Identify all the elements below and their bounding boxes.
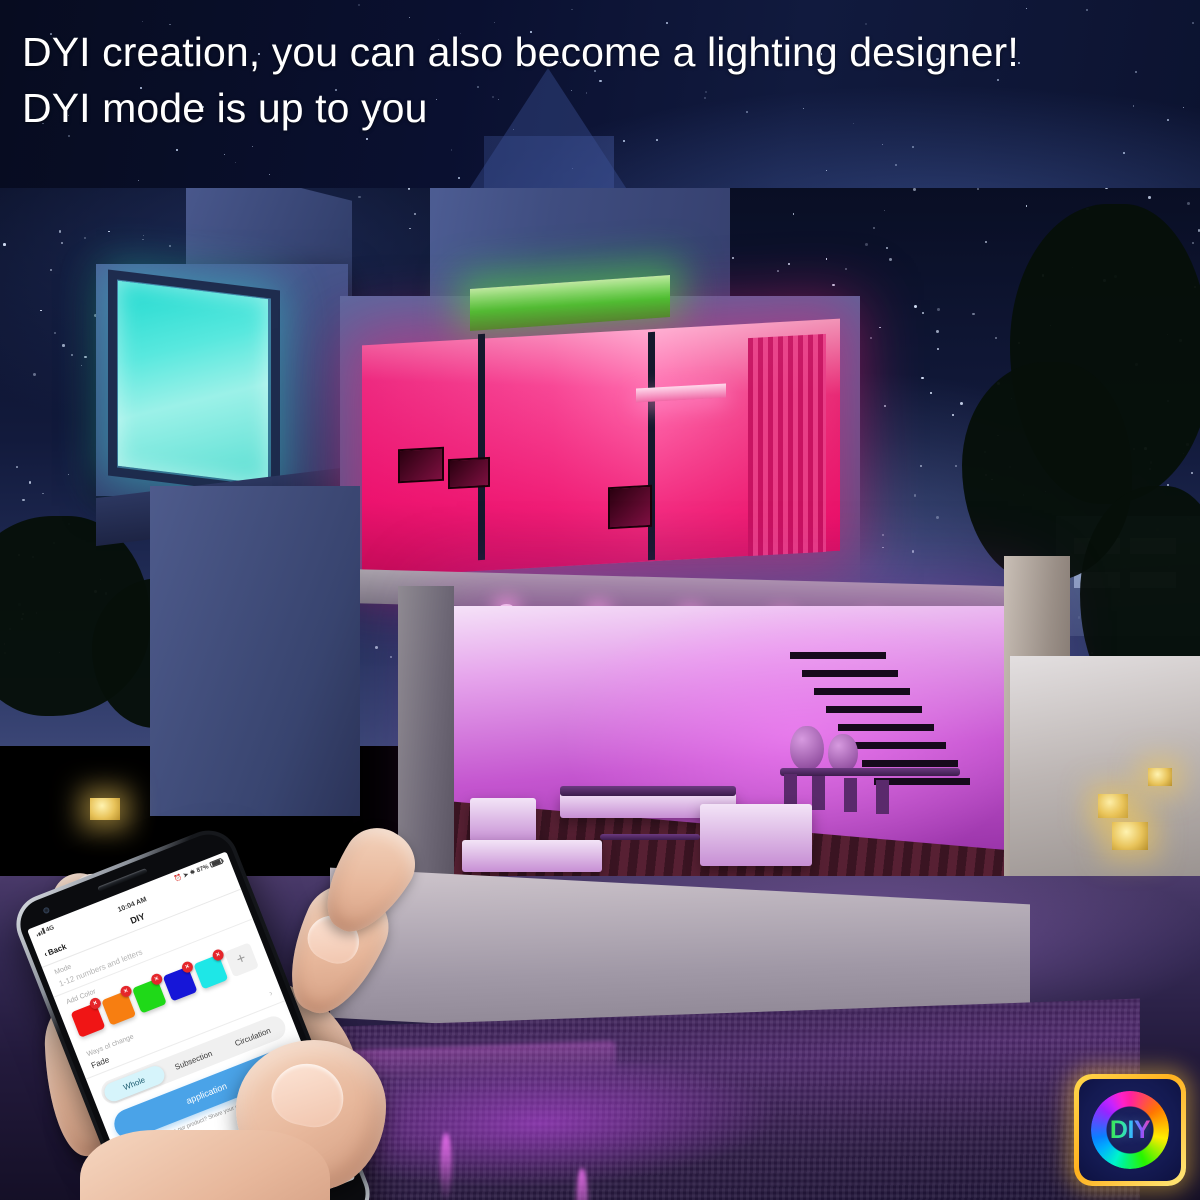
promo-image: DYI creation, you can also become a ligh… xyxy=(0,0,1200,1200)
landscape-light-panel xyxy=(1098,794,1128,818)
window-curtains xyxy=(748,334,826,556)
stair-tread xyxy=(814,688,910,695)
remove-swatch-icon[interactable]: × xyxy=(211,948,225,962)
diy-logo-badge: DIY xyxy=(1074,1074,1186,1186)
remove-swatch-icon[interactable]: × xyxy=(180,960,194,974)
color-swatch-red[interactable]: × xyxy=(70,1003,105,1038)
house-night-scene: 4G ⏰ ➤ ✵ 87% 10:04 AM xyxy=(0,186,1200,1200)
bluetooth-icon: ✵ xyxy=(189,868,196,876)
armchair xyxy=(700,804,812,866)
remove-swatch-icon[interactable]: × xyxy=(88,996,102,1010)
right-patio-wall xyxy=(1010,656,1200,876)
pool-reflection xyxy=(576,1168,588,1200)
stair-tread xyxy=(802,670,898,677)
landscape-light-panel xyxy=(1112,822,1148,850)
sofa-backrest xyxy=(560,786,736,796)
page-title-diy: DIY xyxy=(129,911,147,926)
remove-swatch-icon[interactable]: × xyxy=(150,972,164,986)
stair-tread xyxy=(862,760,958,767)
wrist xyxy=(80,1130,330,1200)
color-swatch-cyan[interactable]: × xyxy=(193,954,228,989)
diy-badge-panel: DIY xyxy=(1079,1079,1181,1181)
wall-picture xyxy=(398,447,444,484)
color-swatch-green[interactable]: × xyxy=(132,979,167,1014)
coffee-table xyxy=(600,834,700,840)
wall-picture xyxy=(448,457,490,489)
dining-chair xyxy=(812,776,825,810)
window-mullion xyxy=(478,334,485,560)
dining-chair xyxy=(784,774,797,808)
floor-vase xyxy=(790,726,824,770)
color-swatch-blue[interactable]: × xyxy=(163,966,198,1001)
color-swatch-orange[interactable]: × xyxy=(101,991,136,1026)
stair-tread xyxy=(838,724,934,731)
stair-tread xyxy=(790,652,886,659)
headline-banner: DYI creation, you can also become a ligh… xyxy=(0,0,1200,188)
front-camera-icon xyxy=(42,907,50,915)
house-left-box xyxy=(96,264,348,496)
landscape-light-panel xyxy=(1148,768,1172,786)
diy-badge-label: DIY xyxy=(1110,1116,1150,1145)
wall-poster xyxy=(608,485,652,529)
dining-chair xyxy=(844,778,857,812)
stair-tread xyxy=(826,706,922,713)
remove-swatch-icon[interactable]: × xyxy=(119,984,133,998)
back-button[interactable]: ‹ Back xyxy=(43,942,68,959)
page-title: DYI creation, you can also become a ligh… xyxy=(22,24,1182,136)
back-label: Back xyxy=(47,942,68,957)
add-color-button[interactable]: + xyxy=(224,942,259,977)
hand-holding-phone: 4G ⏰ ➤ ✵ 87% 10:04 AM xyxy=(40,678,500,1200)
floor-vase xyxy=(828,734,858,772)
stair-tread xyxy=(850,742,946,749)
cyan-window-frame xyxy=(108,269,280,496)
dining-table xyxy=(780,768,960,776)
dining-chair xyxy=(876,780,889,814)
